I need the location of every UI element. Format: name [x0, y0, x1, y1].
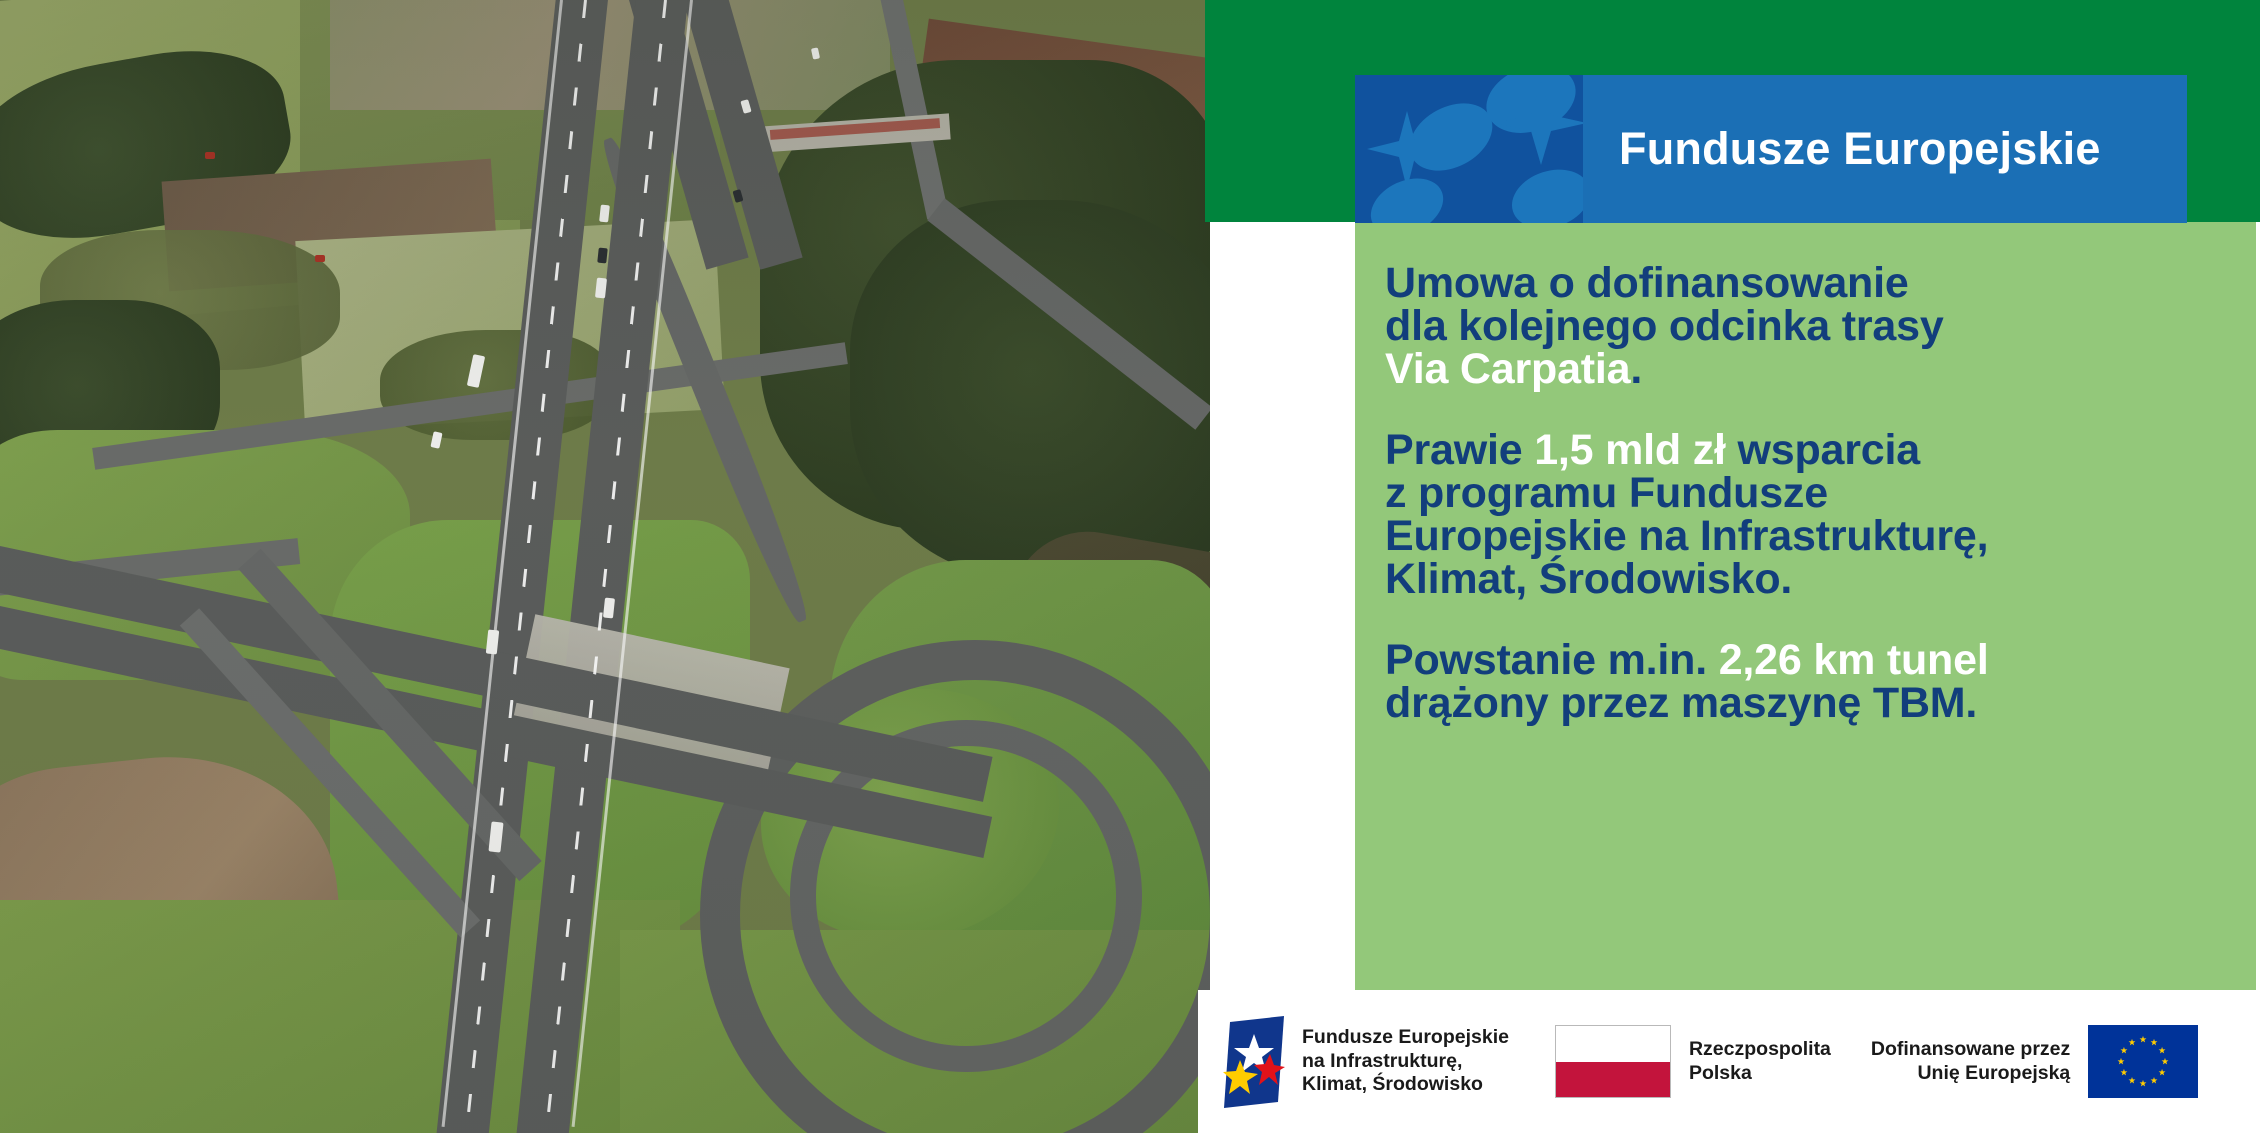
footer-poland-text: Rzeczpospolita Polska [1689, 1038, 1831, 1086]
copy-b2-tail: wsparcia [1726, 426, 1920, 474]
copy-b2-line4: Klimat, Środowisko. [1385, 558, 2245, 601]
copy-b2-line2: z programu Fundusze [1385, 472, 2245, 515]
copy-block-2: Prawie 1,5 mld zł wsparcia z programu Fu… [1385, 429, 2245, 601]
fundusze-europejskie-logo-icon [1220, 1016, 1288, 1108]
copy-b2-line3: Europejskie na Infrastrukturę, [1385, 515, 2245, 558]
copy-b2-line1: Prawie 1,5 mld zł wsparcia [1385, 429, 2245, 472]
copy-b1-line3: Via Carpatia. [1385, 348, 2245, 391]
copy-block-3: Powstanie m.in. 2,26 km tunel drążony pr… [1385, 639, 2245, 725]
copy-b1-line2: dla kolejnego odcinka trasy [1385, 305, 2245, 348]
copy-b1-highlight: Via Carpatia [1385, 345, 1630, 393]
copy-b2-lead: Prawie [1385, 426, 1534, 474]
copy-b3-highlight: 2,26 km tunel [1719, 636, 1989, 684]
footer-logo-bar: Fundusze Europejskie na Infrastrukturę, … [1198, 990, 2256, 1133]
fundusze-europejskie-banner: Fundusze Europejskie [1355, 75, 2187, 223]
copy-b1-period: . [1630, 345, 1642, 393]
footer-eu-line1: Dofinansowane przez [1871, 1038, 2070, 1062]
copy-b3-line2: drążony przez maszynę TBM. [1385, 682, 2245, 725]
star-pattern-icon [1355, 75, 1583, 223]
banner-title-area: Fundusze Europejskie [1583, 75, 2187, 223]
footer-fe-line2: na Infrastrukturę, [1302, 1050, 1509, 1074]
main-copy: Umowa o dofinansowanie dla kolejnego odc… [1385, 262, 2245, 725]
copy-block-1: Umowa o dofinansowanie dla kolejnego odc… [1385, 262, 2245, 391]
banner-title: Fundusze Europejskie [1583, 123, 2101, 175]
infographic-canvas: Fundusze Europejskie Umowa o dofinansowa… [0, 0, 2268, 1133]
footer-poland-line2: Polska [1689, 1062, 1831, 1086]
footer-poland-block: Rzeczpospolita Polska [1509, 1025, 1831, 1098]
copy-b3-line1: Powstanie m.in. 2,26 km tunel [1385, 639, 2245, 682]
european-union-flag-icon [2088, 1025, 2198, 1098]
copy-b3-lead: Powstanie m.in. [1385, 636, 1719, 684]
footer-fe-text: Fundusze Europejskie na Infrastrukturę, … [1302, 1026, 1509, 1097]
footer-eu-block: Dofinansowane przez Unię Europejską [1831, 1025, 2198, 1098]
poland-flag-icon [1555, 1025, 1671, 1098]
aerial-highway-photo [0, 0, 1210, 1133]
footer-eu-text: Dofinansowane przez Unię Europejską [1871, 1038, 2070, 1086]
copy-b1-line1: Umowa o dofinansowanie [1385, 262, 2245, 305]
footer-fe-line1: Fundusze Europejskie [1302, 1026, 1509, 1050]
copy-b2-highlight: 1,5 mld zł [1534, 426, 1726, 474]
footer-fe-line3: Klimat, Środowisko [1302, 1073, 1509, 1097]
footer-poland-line1: Rzeczpospolita [1689, 1038, 1831, 1062]
footer-fe-block: Fundusze Europejskie na Infrastrukturę, … [1198, 1016, 1509, 1108]
footer-eu-line2: Unię Europejską [1871, 1062, 2070, 1086]
